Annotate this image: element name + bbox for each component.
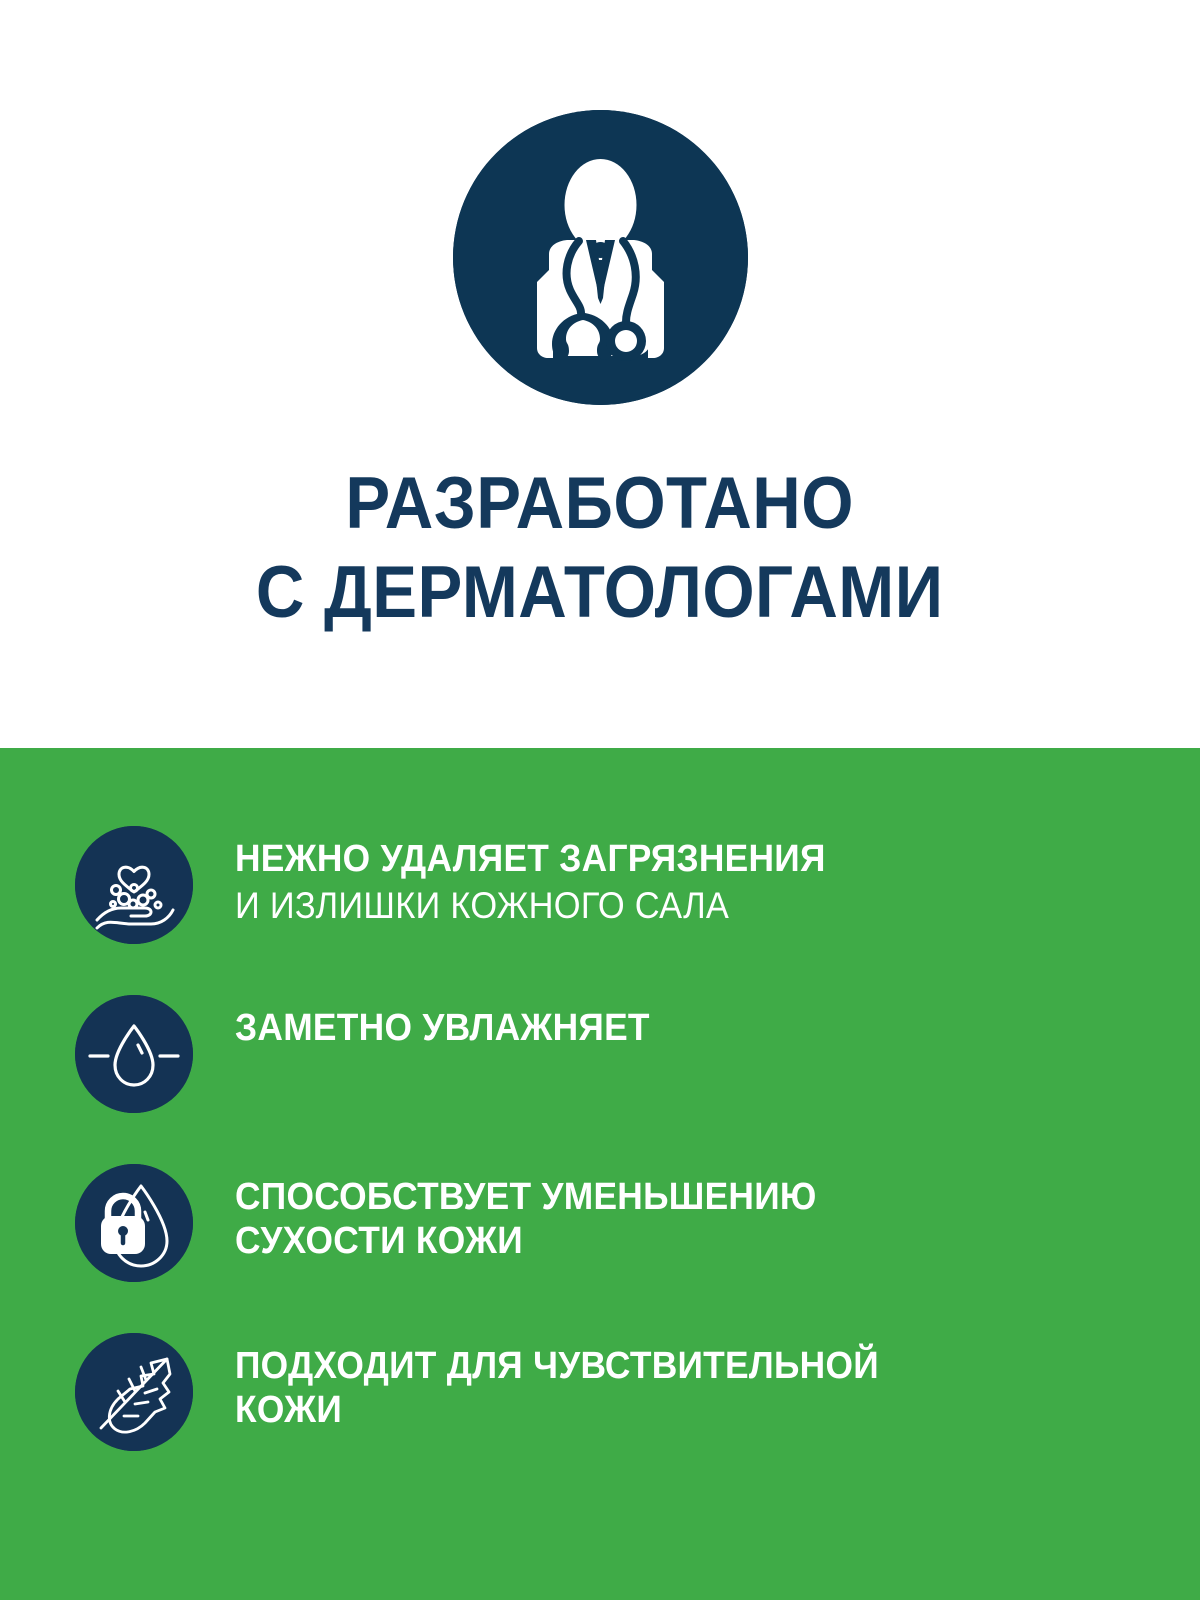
benefit-title-line-2: СУХОСТИ КОЖИ [235, 1219, 817, 1263]
page-title-line-1: РАЗРАБОТАНО [256, 459, 944, 548]
benefit-title: НЕЖНО УДАЛЯЕТ ЗАГРЯЗНЕНИЯ [235, 837, 826, 881]
benefit-item: СПОСОБСТВУЕТ УМЕНЬШЕНИЮ СУХОСТИ КОЖИ [75, 1164, 1140, 1282]
feather-icon [75, 1333, 193, 1451]
hand-with-bubbles-and-heart-icon [75, 826, 193, 944]
water-droplet-icon [75, 995, 193, 1113]
benefits-section: НЕЖНО УДАЛЯЕТ ЗАГРЯЗНЕНИЯ И ИЗЛИШКИ КОЖН… [0, 748, 1200, 1600]
promo-poster: РАЗРАБОТАНО С ДЕРМАТОЛОГАМИ [0, 0, 1200, 1600]
page-title-line-2: С ДЕРМАТОЛОГАМИ [256, 548, 944, 637]
benefit-text: СПОСОБСТВУЕТ УМЕНЬШЕНИЮ СУХОСТИ КОЖИ [235, 1164, 860, 1264]
benefit-title: ЗАМЕТНО УВЛАЖНЯЕТ [235, 1006, 650, 1050]
benefit-item: ЗАМЕТНО УВЛАЖНЯЕТ [75, 995, 1140, 1113]
benefit-text: ЗАМЕТНО УВЛАЖНЯЕТ [235, 995, 681, 1050]
page-title: РАЗРАБОТАНО С ДЕРМАТОЛОГАМИ [219, 459, 980, 637]
benefit-title: ПОДХОДИТ ДЛЯ ЧУВСТВИТЕЛЬНОЙ [235, 1344, 879, 1388]
benefit-title-line-2: КОЖИ [235, 1388, 879, 1432]
benefit-item: НЕЖНО УДАЛЯЕТ ЗАГРЯЗНЕНИЯ И ИЗЛИШКИ КОЖН… [75, 826, 1140, 944]
benefit-item: ПОДХОДИТ ДЛЯ ЧУВСТВИТЕЛЬНОЙ КОЖИ [75, 1333, 1140, 1451]
benefit-subtitle: И ИЗЛИШКИ КОЖНОГО САЛА [235, 883, 826, 928]
benefit-text: ПОДХОДИТ ДЛЯ ЧУВСТВИТЕЛЬНОЙ КОЖИ [235, 1333, 927, 1433]
hero-section: РАЗРАБОТАНО С ДЕРМАТОЛОГАМИ [0, 0, 1200, 748]
doctor-with-stethoscope-icon [453, 110, 748, 405]
droplet-with-padlock-icon [75, 1164, 193, 1282]
benefit-title: СПОСОБСТВУЕТ УМЕНЬШЕНИЮ [235, 1175, 817, 1219]
benefit-text: НЕЖНО УДАЛЯЕТ ЗАГРЯЗНЕНИЯ И ИЗЛИШКИ КОЖН… [235, 826, 870, 929]
